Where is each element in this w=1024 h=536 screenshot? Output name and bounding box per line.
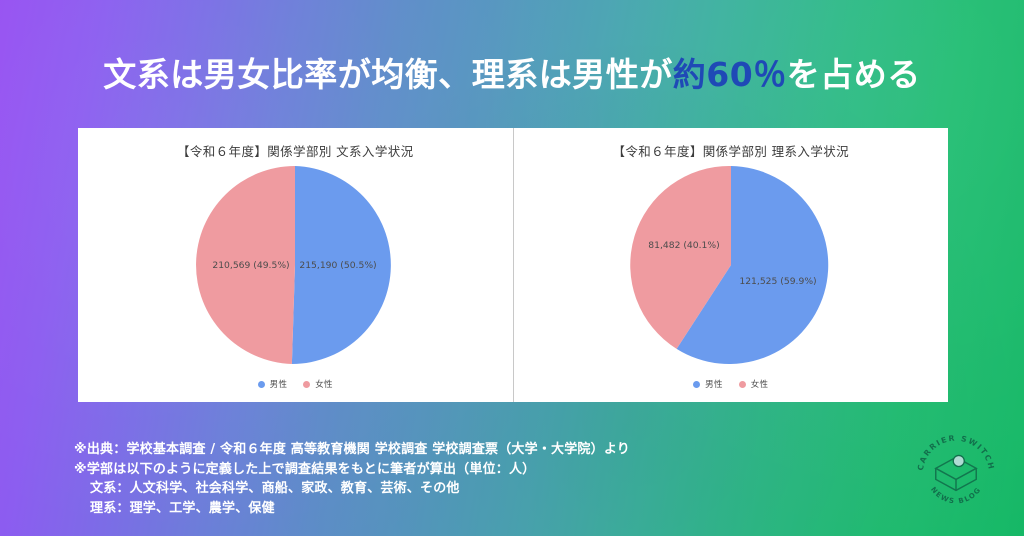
headline-highlight: 約60％ xyxy=(673,55,787,94)
pie-label-male-rikei: 121,525 (59.9%) xyxy=(739,276,816,287)
legend-item-male-rikei[interactable]: 男性 xyxy=(693,378,723,390)
slide-canvas: 文系は男女比率が均衡、理系は男性が約60％を占める 【令和６年度】関係学部別 文… xyxy=(0,0,1024,536)
legend-dot-female-icon xyxy=(303,381,310,388)
headline-text-before: 文系は男女比率が均衡、理系は男性が xyxy=(103,55,673,94)
legend-label-female-rikei: 女性 xyxy=(751,378,769,390)
pie-svg-bunkei: 215,190 (50.5%) 210,569 (49.5%) xyxy=(190,162,400,368)
legend-label-male-rikei: 男性 xyxy=(705,378,723,390)
footnote-line-1: ※出典：学校基本調査 / 令和６年度 高等教育機関 学校調査 学校調査票（大学・… xyxy=(74,440,630,460)
legend-item-female-bunkei[interactable]: 女性 xyxy=(303,378,333,390)
footnote-line-2: ※学部は以下のように定義した上で調査結果をもとに筆者が算出（単位：人） xyxy=(74,460,630,480)
chart-panel-rikei: 【令和６年度】関係学部別 理系入学状況 121,525 (59.9%) 81,4… xyxy=(514,128,949,402)
headline-text-after: を占める xyxy=(787,55,921,94)
footnotes: ※出典：学校基本調査 / 令和６年度 高等教育機関 学校調査 学校調査票（大学・… xyxy=(74,440,630,518)
footnote-line-4: 理系：理学、工学、農学、保健 xyxy=(74,499,630,519)
logo-svg: CARRIER SWITCH NEWS BLOG xyxy=(910,426,1002,518)
chart-panel-bunkei: 【令和６年度】関係学部別 文系入学状況 215,190 (50.5%) 210,… xyxy=(78,128,514,402)
legend-label-female-bunkei: 女性 xyxy=(315,378,333,390)
chart-title-bunkei: 【令和６年度】関係学部別 文系入学状況 xyxy=(78,141,513,160)
legend-item-male-bunkei[interactable]: 男性 xyxy=(258,378,288,390)
pie-label-male-bunkei: 215,190 (50.5%) xyxy=(300,260,377,271)
logo-knob-icon xyxy=(953,455,964,466)
footnote-line-3: 文系：人文科学、社会科学、商船、家政、教育、芸術、その他 xyxy=(74,479,630,499)
pie-chart-bunkei: 215,190 (50.5%) 210,569 (49.5%) xyxy=(78,162,513,370)
legend-dot-female-icon xyxy=(739,381,746,388)
page-title: 文系は男女比率が均衡、理系は男性が約60％を占める xyxy=(0,48,1024,96)
legend-dot-male-icon xyxy=(258,381,265,388)
legend-dot-male-icon xyxy=(693,381,700,388)
brand-logo: CARRIER SWITCH NEWS BLOG xyxy=(910,426,1002,518)
pie-chart-rikei: 121,525 (59.9%) 81,482 (40.1%) xyxy=(514,162,949,370)
charts-card: 【令和６年度】関係学部別 文系入学状況 215,190 (50.5%) 210,… xyxy=(78,128,948,402)
chart-legend-rikei: 男性 女性 xyxy=(514,378,949,390)
pie-label-female-bunkei: 210,569 (49.5%) xyxy=(213,260,290,271)
pie-label-female-rikei: 81,482 (40.1%) xyxy=(648,240,719,251)
legend-item-female-rikei[interactable]: 女性 xyxy=(739,378,769,390)
legend-label-male-bunkei: 男性 xyxy=(270,378,288,390)
pie-svg-rikei: 121,525 (59.9%) 81,482 (40.1%) xyxy=(626,162,836,368)
chart-legend-bunkei: 男性 女性 xyxy=(78,378,513,390)
chart-title-rikei: 【令和６年度】関係学部別 理系入学状況 xyxy=(514,141,949,160)
